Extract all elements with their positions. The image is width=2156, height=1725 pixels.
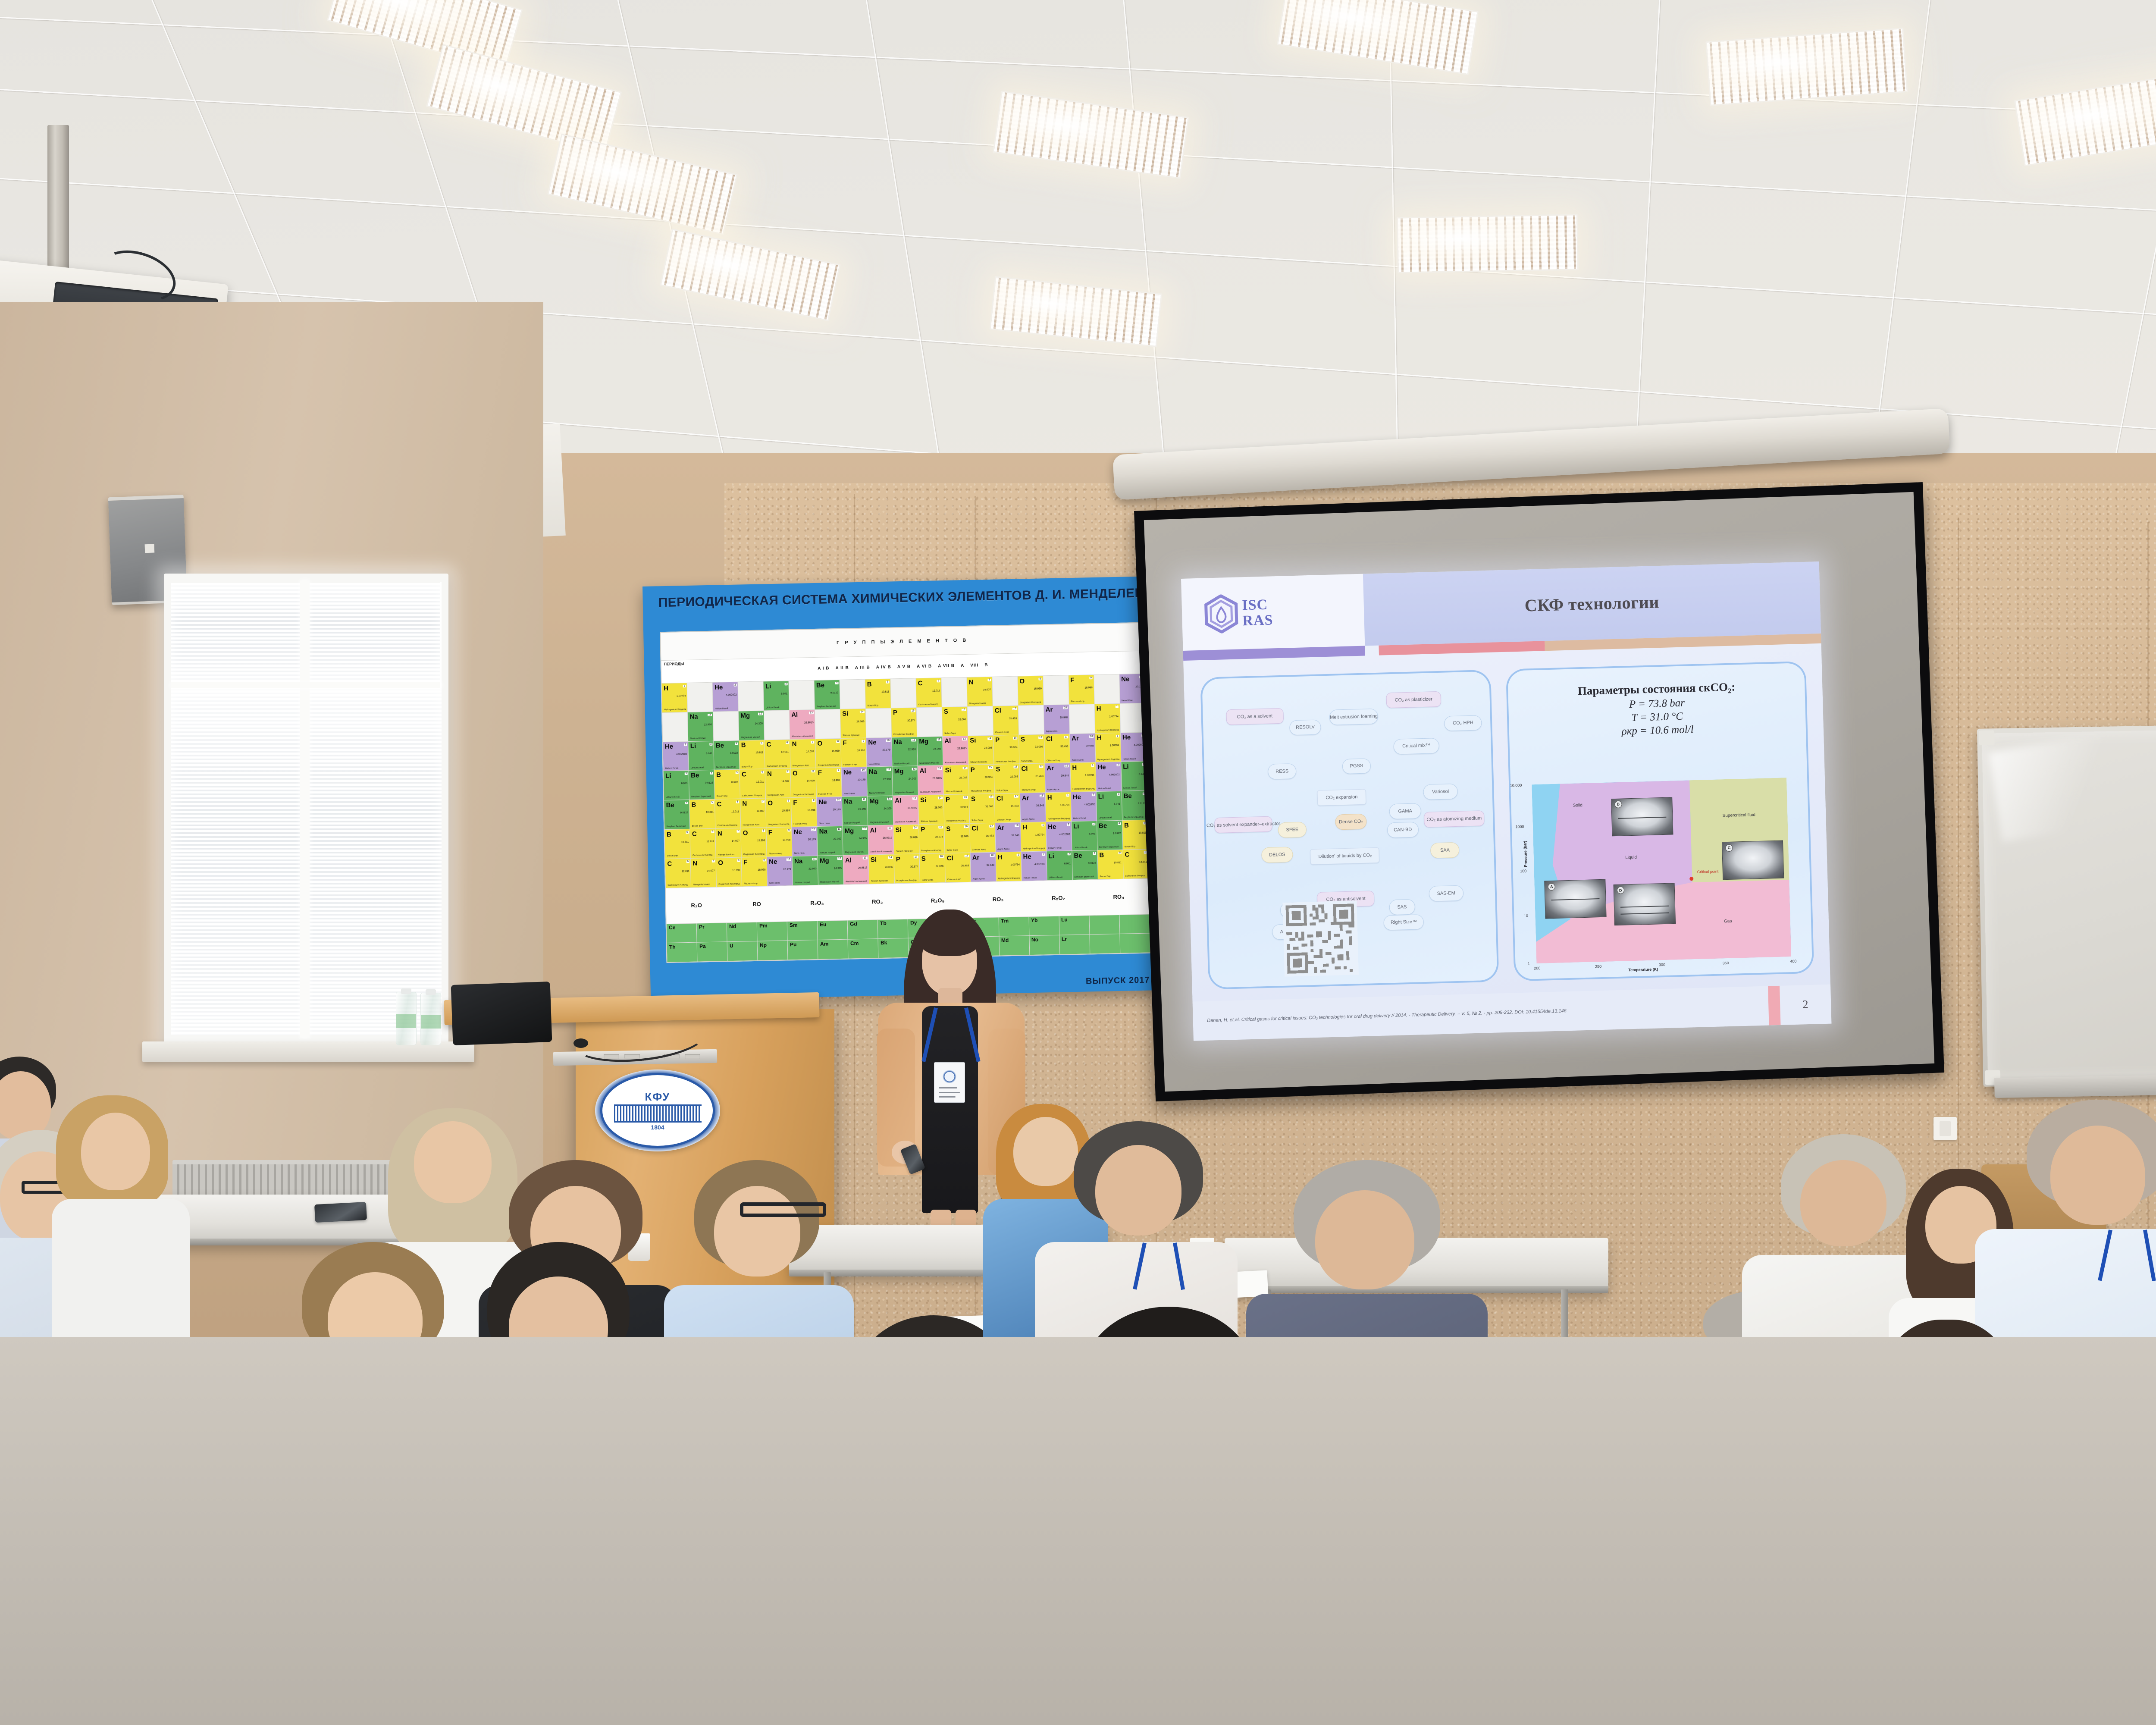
element-mass: 24.305 [834, 867, 842, 869]
element-name: Borum Бор [1125, 846, 1135, 848]
periodic-element-cell: H11.00794Hydrogenium Водород [1070, 762, 1096, 792]
element-name: Fluorum Фтор [744, 883, 757, 885]
microphone-head [573, 1038, 588, 1048]
projector-mount-pole [47, 125, 69, 272]
water-droplet-hexagon-logo-icon [1204, 594, 1238, 634]
co2-technology-bubble: CO₂ as atomizing medium [1424, 811, 1485, 828]
element-number: 9 [837, 769, 840, 772]
element-mass: 20.179 [858, 779, 865, 781]
element-name: Borum Бор [742, 765, 752, 768]
slide-right-panel: Параметры состояния скCO₂: P = 73.8 bar … [1506, 661, 1814, 981]
element-mass: 1.00794 [1035, 834, 1045, 836]
periodic-element-cell: S1632.066Sulfur Сера [944, 824, 970, 853]
element-number: 2 [1067, 823, 1070, 826]
periodic-element-cell [815, 709, 840, 739]
element-mass: 39.948 [1061, 775, 1069, 777]
element-symbol: Al [895, 797, 901, 804]
oxide-formula: R₂O₇ [1028, 894, 1088, 902]
element-number: 4 [1118, 822, 1121, 825]
lanthanide-cell: Pr [697, 923, 727, 942]
element-mass: 30.974 [1009, 746, 1017, 749]
element-mass: 35.453 [1060, 746, 1068, 748]
periodic-element-cell: F918.998Fluorum Фтор [742, 857, 767, 886]
element-mass: 9.0122 [705, 782, 713, 784]
element-mass: 18.998 [1084, 687, 1092, 689]
element-symbol: Np [760, 942, 767, 948]
phase-xtick: 250 [1595, 964, 1601, 969]
element-name: Helium Гелий [1123, 758, 1136, 761]
periodic-element-cell: H11.00794Hydrogenium Водород [1021, 822, 1046, 851]
element-symbol: H [1022, 824, 1027, 831]
element-mass: 22.990 [908, 749, 915, 751]
lanthanide-cell: Pm [757, 922, 787, 941]
element-mass: 22.990 [808, 868, 816, 870]
element-symbol: Cm [850, 940, 859, 946]
phase-xtick: 400 [1790, 959, 1796, 963]
element-symbol: Ce [669, 925, 676, 931]
element-name: Natrium Натрий [690, 737, 705, 740]
element-name: Neon Неон [844, 793, 855, 796]
co2-technology-bubble: CO₂ as plasticizer [1386, 691, 1441, 708]
element-number: 12 [937, 738, 941, 741]
element-symbol: Na [893, 738, 902, 746]
periodic-element-cell: Ne1020.179Neon Неон [792, 827, 817, 856]
element-number: 16 [939, 855, 944, 858]
element-symbol: O [793, 770, 798, 777]
footer-accent-bar [1768, 986, 1780, 1026]
element-mass: 26.9815 [804, 721, 814, 724]
element-number: 13 [809, 712, 814, 714]
periodic-element-cell: O815.999Oxygenium Кислород [766, 798, 791, 827]
periodic-element-cell: Si1428.086Silicium Кремний [918, 795, 944, 824]
periodic-element-cell: Cl1735.453Chlorum Хлор [995, 793, 1020, 823]
element-symbol: F [843, 740, 847, 747]
periodic-element-cell [992, 677, 1018, 706]
element-number: 10 [861, 769, 866, 772]
element-number: 17 [1014, 795, 1019, 798]
element-mass: 30.974 [960, 806, 968, 809]
element-mass: 6.941 [681, 782, 688, 785]
element-symbol: O [768, 800, 773, 807]
element-symbol: Si [895, 826, 902, 834]
element-mass: 35.453 [1009, 717, 1017, 720]
phase-xtick: 350 [1723, 961, 1729, 965]
element-mass: 4.002602 [1034, 863, 1045, 866]
element-mass: 22.990 [858, 808, 866, 811]
element-symbol: N [718, 830, 722, 837]
phase-xlabel: Temperature (K) [1628, 967, 1658, 972]
element-name: Sulfur Сера [922, 879, 934, 881]
periodic-element-cell: Al1326.9815Aluminium Алюминий [918, 766, 943, 795]
periodic-element-cell: B510.811Borum Бор [665, 829, 690, 859]
element-mass: 28.086 [909, 836, 917, 839]
element-mass: 12.011 [706, 841, 714, 843]
element-symbol: S [946, 825, 950, 832]
element-name: Chlorum Хлор [1047, 759, 1060, 762]
element-number: 7 [711, 860, 714, 862]
element-number: 13 [887, 827, 892, 830]
element-name: Carboneum Углерод [767, 765, 787, 768]
poster-element-grid: H11.00794Hydrogenium ВодородHe24.002602H… [662, 674, 1148, 888]
university-emblem: КФУ 1804 [595, 1069, 720, 1151]
element-mass: 12.011 [756, 781, 764, 784]
periodic-element-cell: Si1428.086Silicium Кремний [840, 709, 866, 738]
phase-inset-photo: A [1544, 879, 1606, 919]
element-mass: 12.011 [781, 751, 789, 754]
element-symbol: Na [819, 828, 827, 835]
periodic-element-cell: P1530.974Phosphorus Фосфор [919, 824, 944, 853]
element-symbol: P [893, 709, 897, 717]
element-number: 9 [787, 829, 790, 831]
periodic-element-cell [890, 678, 916, 708]
element-symbol: C [1125, 851, 1129, 858]
periodic-element-cell: Be49.0122Beryllium Бериллий [815, 680, 840, 709]
periodic-element-cell: Mg1224.305Magnesium Магний [843, 826, 868, 855]
element-mass: 18.998 [832, 779, 840, 782]
element-name: Oxygenium Кислород [718, 883, 740, 885]
element-name: Borum Бор [692, 825, 703, 828]
slide-org-abbr: ISC RAS [1242, 597, 1273, 628]
periodic-element-cell: Al1326.9815Aluminium Алюминий [843, 855, 869, 884]
element-mass: 15.999 [782, 809, 790, 812]
actinide-cell [1120, 934, 1150, 953]
element-symbol: Be [1074, 852, 1082, 859]
element-symbol: F [818, 769, 822, 777]
element-number: 16 [1013, 766, 1018, 768]
element-symbol: Li [1098, 793, 1104, 800]
element-symbol: Pa [699, 943, 706, 949]
whiteboard[interactable] [1977, 718, 2156, 1087]
periodic-element-cell: C612.011Carboneum Углерод [665, 859, 691, 888]
element-number: 9 [862, 740, 865, 742]
element-symbol: B [691, 801, 696, 809]
smartphone-on-desk[interactable] [314, 1202, 367, 1223]
element-number: 8 [787, 800, 790, 802]
element-number: 6 [937, 680, 940, 682]
periodic-element-cell: H11.00794Hydrogenium Водород [1095, 733, 1121, 762]
water-bottle[interactable] [396, 992, 417, 1045]
actinide-cell: Pa [697, 942, 727, 961]
element-name: Neon Неон [794, 852, 805, 855]
element-number: 18 [1063, 706, 1068, 709]
element-mass: 14.007 [707, 869, 714, 872]
element-name: Fluorum Фтор [793, 823, 807, 826]
element-mass: 32.066 [1010, 776, 1018, 778]
periodic-element-cell: N714.007Nitrogenium Азот [790, 739, 815, 768]
element-number: 15 [963, 796, 968, 799]
element-mass: 39.948 [1011, 834, 1019, 837]
element-symbol: H [1096, 705, 1101, 712]
oxide-formula: RO₃ [968, 895, 1028, 903]
element-symbol: Sm [790, 922, 798, 928]
lanthanide-cell [1089, 915, 1119, 935]
element-symbol: Ar [1046, 706, 1053, 713]
element-symbol: N [767, 770, 772, 778]
element-mass: 12.011 [932, 690, 940, 692]
element-symbol: Li [1123, 763, 1129, 771]
element-mass: 1.00794 [1085, 774, 1094, 777]
element-number: 15 [988, 766, 993, 769]
element-number: 7 [811, 741, 814, 743]
element-name: Chlorum Хлор [997, 819, 1011, 822]
element-mass: 22.990 [704, 723, 711, 726]
oxide-formula: R₂O [666, 901, 727, 909]
element-name: Sulfur Сера [944, 732, 956, 735]
periodic-element-cell: Ar1839.948Argon Аргон [1045, 763, 1070, 793]
phase-region-label: Gas [1724, 919, 1732, 924]
element-mass: 4.002602 [1059, 833, 1070, 836]
periodic-element-cell [968, 706, 993, 736]
element-name: Beryllium Бериллий [817, 706, 836, 708]
lecture-room-scene: ПЕРИОДИЧЕСКАЯ СИСТЕМА ХИМИЧЕСКИХ ЭЛЕМЕНТ… [0, 0, 2156, 1725]
element-mass: 15.999 [1034, 687, 1041, 690]
periodic-element-cell: Li36.941Lithium Литий [1096, 791, 1122, 821]
element-name: Borum Бор [717, 795, 727, 798]
element-number: 9 [762, 859, 765, 861]
lanthanide-cell: Nd [727, 922, 757, 942]
periodic-element-cell: P1530.974Phosphorus Фосфор [968, 765, 994, 794]
periodic-element-cell: Na1122.990Natrium Натрий [867, 767, 893, 796]
element-number: 5 [735, 772, 738, 774]
periodic-element-cell: Ne1020.179Neon Неон [842, 767, 867, 797]
periodic-element-cell: Mg1224.305Magnesium Магний [868, 796, 893, 825]
element-symbol: Al [870, 827, 876, 834]
phase-ytick: 100 [1520, 869, 1526, 873]
element-number: 14 [987, 737, 992, 740]
element-name: Hydrogenium Водород [1097, 729, 1119, 732]
periodic-element-cell: P1530.974Phosphorus Фосфор [944, 794, 969, 824]
co2-technology-bubble: PGSS [1342, 758, 1371, 775]
element-symbol: Be [666, 802, 674, 809]
element-mass: 4.002602 [676, 753, 687, 756]
periodic-element-cell: O815.999Oxygenium Кислород [791, 768, 816, 797]
element-symbol: O [718, 859, 723, 866]
element-name: Beryllium Бериллий [1099, 846, 1119, 849]
element-name: Helium Гелий [1024, 877, 1037, 880]
element-number: 5 [1119, 852, 1122, 854]
element-symbol: He [665, 743, 674, 750]
element-symbol: Pm [759, 923, 768, 929]
element-number: 1 [1091, 764, 1094, 767]
periodic-element-cell [764, 710, 790, 740]
periodic-element-cell: H11.00794Hydrogenium Водород [1046, 792, 1071, 822]
periodic-element-cell: Li36.941Lithium Литий [1047, 851, 1072, 880]
lanthanide-cell [1119, 914, 1150, 934]
element-mass: 10.811 [881, 690, 889, 693]
element-name: Helium Гелий [665, 767, 679, 770]
element-number: 11 [887, 768, 891, 771]
element-mass: 35.453 [1011, 805, 1018, 808]
periodic-element-cell [713, 711, 739, 740]
element-name: Beryllium Бериллий [716, 766, 736, 768]
periodic-element-cell: H11.00794Hydrogenium Водород [1094, 704, 1120, 733]
element-mass: 28.086 [885, 866, 893, 869]
element-mass: 26.9815 [858, 866, 868, 869]
element-name: Silicium Кремний [843, 734, 859, 737]
element-mass: 26.9815 [932, 777, 942, 780]
element-name: Hydrogenium Водород [1072, 788, 1094, 790]
element-number: 9 [812, 799, 815, 802]
element-mass: 24.305 [933, 748, 941, 751]
element-symbol: F [768, 829, 773, 836]
co2-technology-bubble: Critical mix™ [1393, 738, 1439, 755]
actinide-cell: Np [758, 941, 788, 960]
element-number: 12 [837, 857, 842, 860]
element-symbol: Th [669, 944, 676, 950]
periodic-element-cell: Al1326.9815Aluminium Алюминий [868, 825, 893, 854]
critical-point-label: Critical point [1697, 869, 1719, 874]
phase-inset-photo: D [1613, 883, 1675, 925]
periodic-element-cell: F918.998Fluorum Фтор [1069, 675, 1094, 704]
element-mass: 32.066 [1035, 746, 1043, 749]
element-name: Hydrogenium Водород [998, 877, 1020, 880]
element-mass: 9.0122 [1113, 832, 1121, 835]
element-mass: 1.00794 [1109, 715, 1119, 718]
slide-logo-block: ISC RAS [1181, 574, 1365, 651]
element-number: 4 [735, 742, 738, 745]
element-symbol: B [716, 772, 721, 779]
element-name: Borum Бор [868, 705, 878, 707]
element-name: Carboneum Углерод [742, 795, 762, 797]
periodic-element-cell: Ar1839.948Argon Аргон [970, 853, 996, 882]
element-number: 14 [962, 767, 967, 769]
periodic-element-cell [1069, 704, 1094, 734]
periodic-element-cell: Na1122.990Natrium Натрий [793, 856, 818, 885]
element-number: 11 [837, 828, 841, 831]
element-name: Fluorum Фтор [818, 793, 832, 796]
periodic-element-cell: He24.002602Helium Гелий [663, 742, 689, 771]
periodic-element-cell: C612.011Carboneum Углерод [715, 799, 740, 828]
periodic-element-cell [1094, 674, 1119, 704]
co2-technology-bubble: CO₂ as solvent expander–extractor [1214, 816, 1272, 833]
element-symbol: B [1099, 851, 1104, 859]
periodic-element-cell: O815.999Oxygenium Кислород [815, 738, 841, 768]
element-number: 18 [1040, 795, 1044, 797]
emblem-building-icon [614, 1104, 702, 1123]
element-symbol: Be [1123, 792, 1132, 800]
element-symbol: Cl [947, 854, 953, 862]
element-mass: 39.948 [1036, 804, 1044, 807]
element-number: 3 [1092, 823, 1095, 825]
element-mass: 6.941 [781, 693, 787, 695]
element-name: Phosphorus Фосфор [996, 760, 1016, 763]
element-number: 15 [914, 856, 918, 858]
element-number: 7 [761, 800, 765, 803]
element-number: 14 [888, 856, 893, 859]
element-mass: 24.305 [755, 722, 762, 725]
element-symbol: He [1023, 853, 1031, 860]
element-symbol: F [793, 799, 797, 806]
element-mass: 14.007 [756, 810, 764, 812]
element-name: Magnesium Магний [741, 736, 760, 739]
element-symbol: Be [691, 772, 699, 779]
window [164, 574, 448, 1044]
periodic-element-cell: N714.007Nitrogenium Азот [691, 858, 716, 888]
inset-badge: A [1548, 883, 1555, 890]
element-name: Argon Аргон [1046, 730, 1058, 733]
element-mass: 28.086 [959, 777, 967, 779]
element-name: Sulfur Сера [971, 819, 983, 822]
co2-technology-bubble: CO₂-HPH [1444, 715, 1482, 731]
co2-technology-bubble: 'Dilution' of liquids by CO₂ [1310, 847, 1379, 865]
periodic-element-cell: He24.002602Helium Гелий [1096, 762, 1121, 791]
co2-technology-bubble: CAN-BD [1387, 822, 1419, 838]
element-name: Phosphorus Фосфор [896, 879, 917, 882]
co2-technology-bubble: SFEE [1278, 822, 1307, 838]
qr-code[interactable] [1283, 900, 1359, 977]
element-symbol: Na [869, 768, 877, 775]
element-number: 15 [938, 826, 943, 828]
element-name: Carboneum Углерод [717, 825, 737, 827]
element-symbol: Lu [1061, 917, 1068, 923]
element-symbol: P [970, 766, 975, 774]
element-symbol: S [971, 796, 975, 803]
element-number: 12 [862, 828, 867, 830]
phase-region-label: Liquid [1625, 855, 1637, 860]
element-symbol: C [918, 680, 922, 687]
element-symbol: Li [1048, 852, 1054, 859]
element-mass: 15.999 [732, 869, 740, 872]
periodic-element-cell: Ne1020.179Neon Неон [767, 856, 793, 886]
periodic-element-cell [941, 677, 967, 707]
element-name: Magnesium Магний [820, 881, 840, 884]
element-symbol: P [921, 826, 925, 833]
periodic-element-cell: Be49.0122Beryllium Бериллий [664, 800, 689, 829]
element-name: Lithium Литий [666, 797, 680, 799]
element-name: Magnesium Магний [919, 762, 939, 765]
element-number: 13 [937, 768, 942, 770]
element-symbol: P [946, 796, 950, 803]
element-mass: 10.811 [755, 752, 763, 754]
periodic-element-cell: B510.811Borum Бор [689, 800, 715, 829]
element-symbol: Li [690, 743, 696, 750]
element-name: Hydrogenium Водород [1048, 818, 1070, 820]
element-mass: 10.811 [731, 781, 739, 784]
whiteboard-surface[interactable] [1982, 723, 2156, 1082]
element-number: 7 [736, 830, 740, 833]
periodic-element-cell: Mg1224.305Magnesium Магний [893, 766, 918, 796]
inset-badge: C [1725, 844, 1733, 851]
element-symbol: Si [945, 767, 951, 774]
periodic-element-cell: P1530.974Phosphorus Фосфор [894, 854, 920, 883]
water-bottle[interactable] [420, 993, 441, 1045]
element-number: 6 [736, 801, 739, 803]
co2-technology-bubble: CO₂ expansion [1317, 789, 1366, 806]
periodic-element-cell: Si1428.086Silicium Кремний [893, 825, 919, 854]
co2-technology-bubble: CO₂ as a solvent [1226, 708, 1284, 725]
element-number: 11 [708, 714, 712, 716]
element-name: Beryllium Бериллий [691, 796, 711, 798]
oxide-formula: R₂O₃ [787, 899, 847, 907]
element-name: Aluminium Алюминий [846, 880, 867, 883]
element-symbol: Cl [1046, 735, 1053, 743]
element-name: Natrium Натрий [820, 852, 835, 854]
light-switch-plate[interactable] [1934, 1117, 1957, 1140]
co2-technology-bubble: RESS [1268, 763, 1297, 780]
slide-title: СКФ технологии [1524, 592, 1659, 615]
ceiling-light-fixture [1397, 214, 1579, 273]
element-name: Beryllium Бериллий [1074, 876, 1094, 878]
element-symbol: Mg [894, 768, 904, 775]
element-mass: 10.811 [1138, 831, 1146, 834]
element-mass: 28.086 [934, 806, 942, 809]
periodic-element-cell: B510.811Borum Бор [1097, 850, 1123, 879]
element-name: Lithium Литий [691, 767, 705, 769]
element-number: 11 [812, 858, 816, 860]
element-mass: 32.066 [936, 865, 943, 868]
element-mass: 10.811 [706, 811, 714, 814]
element-name: Beryllium Бериллий [1124, 816, 1144, 819]
